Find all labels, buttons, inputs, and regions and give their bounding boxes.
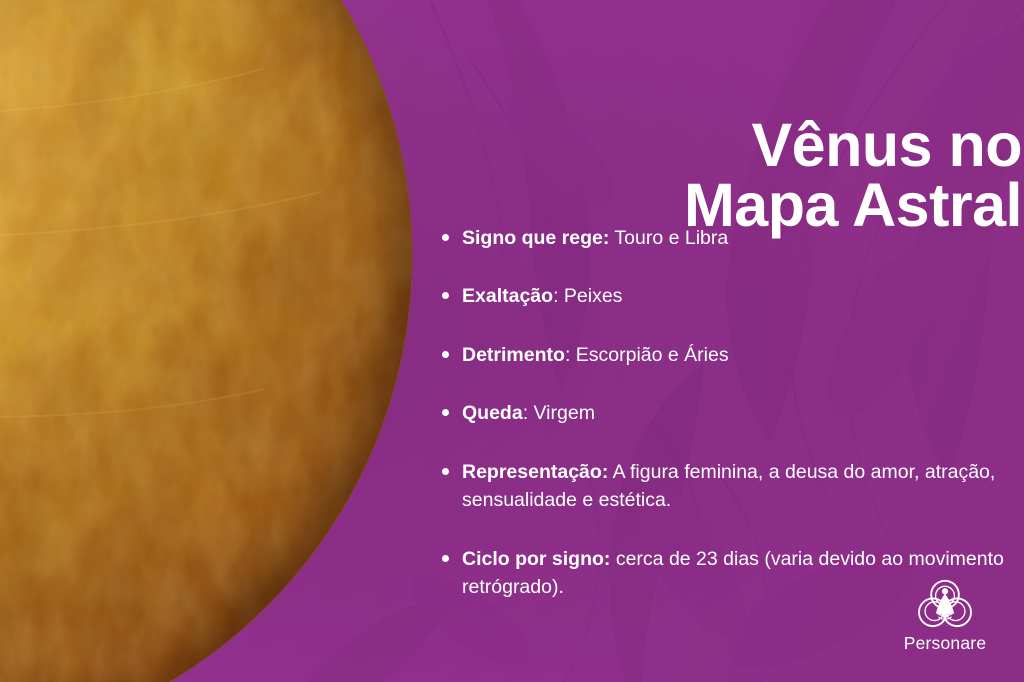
list-item-label: Detrimento (462, 344, 565, 366)
attribute-list: Signo que rege: Touro e Libra Exaltação:… (440, 224, 1024, 602)
personare-trefoil-knot-icon (917, 578, 973, 630)
list-item-value: Touro e Libra (609, 227, 728, 249)
list-item: Detrimento: Escorpião e Áries (440, 341, 1024, 369)
bullet-dot-icon (442, 409, 449, 416)
personare-wordmark: Personare (886, 633, 1004, 654)
page-title: Vênus no Mapa Astral (442, 115, 1022, 236)
list-item-label: Signo que rege: (462, 227, 609, 249)
list-item-label: Ciclo por signo: (462, 548, 610, 570)
bullet-dot-icon (442, 555, 449, 562)
list-item: Exaltação: Peixes (440, 282, 1024, 310)
list-item-label: Exaltação (462, 285, 553, 307)
venus-planet-image (0, 0, 412, 682)
list-item-value: : Escorpião e Áries (565, 344, 729, 366)
list-item: Queda: Virgem (440, 399, 1024, 427)
personare-logo: Personare (886, 578, 1004, 662)
poster-canvas: Vênus no Mapa Astral Signo que rege: Tou… (0, 0, 1024, 682)
list-item: Representação: A figura feminina, a deus… (440, 458, 1024, 515)
bullet-dot-icon (442, 351, 449, 358)
list-item-label: Representação: (462, 461, 608, 483)
list-item-value: : Peixes (553, 285, 622, 307)
list-item-value: : Virgem (523, 402, 595, 424)
venus-surface-texture-ridges (0, 0, 412, 682)
bullet-dot-icon (442, 468, 449, 475)
list-item: Signo que rege: Touro e Libra (440, 224, 1024, 252)
bullet-dot-icon (442, 234, 449, 241)
list-item-label: Queda (462, 402, 523, 424)
bullet-dot-icon (442, 292, 449, 299)
